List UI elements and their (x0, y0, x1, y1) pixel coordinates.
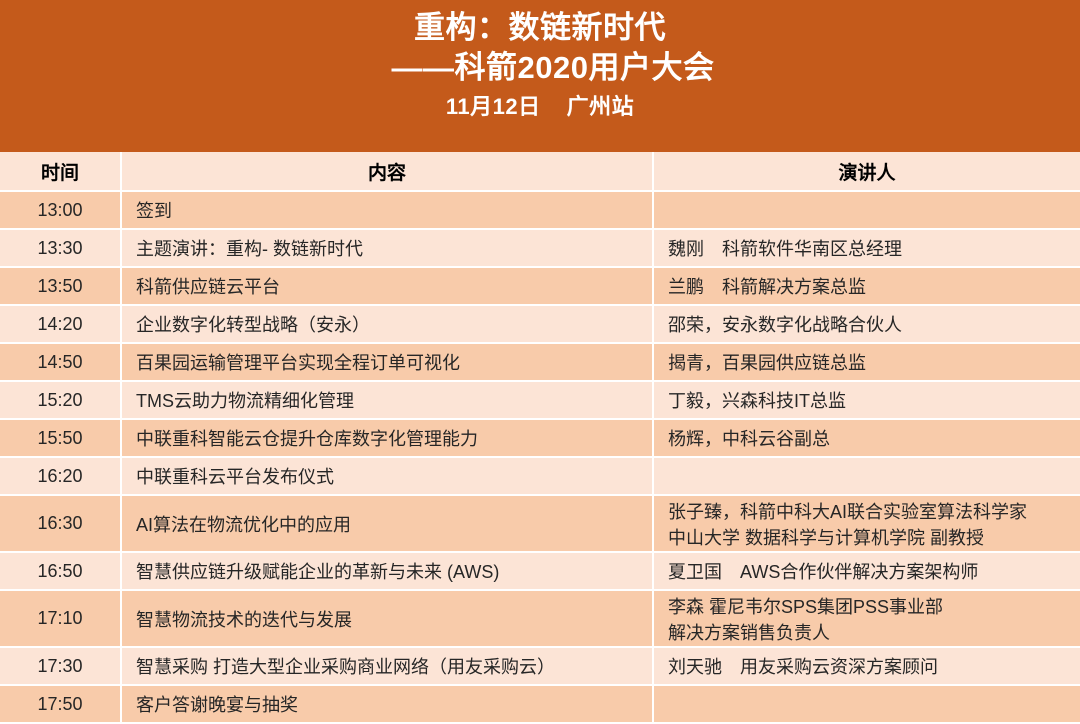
row-topic: 智慧采购 打造大型企业采购商业网络（用友采购云） (121, 647, 653, 685)
row-speaker: 杨辉，中科云谷副总 (653, 419, 1080, 457)
row-speaker: 邵荣，安永数字化战略合伙人 (653, 305, 1080, 343)
table-row: 16:50 智慧供应链升级赋能企业的革新与未来 (AWS) 夏卫国 AWS合作伙… (0, 552, 1080, 590)
row-time: 14:50 (0, 343, 121, 381)
row-speaker: 兰鹏 科箭解决方案总监 (653, 267, 1080, 305)
row-speaker: 张子臻，科箭中科大AI联合实验室算法科学家 中山大学 数据科学与计算机学院 副教… (653, 495, 1080, 552)
banner-city: 广州站 (567, 94, 635, 119)
table-row: 16:20 中联重科云平台发布仪式 (0, 457, 1080, 495)
row-speaker: 魏刚 科箭软件华南区总经理 (653, 229, 1080, 267)
row-time: 15:50 (0, 419, 121, 457)
banner-title-secondary: ——科箭2020用户大会 (366, 52, 715, 85)
row-topic: TMS云助力物流精细化管理 (121, 381, 653, 419)
row-speaker-line2: 解决方案销售负责人 (668, 619, 1080, 645)
row-speaker-line1: 杨辉，中科云谷副总 (668, 425, 1080, 451)
row-topic: 企业数字化转型战略（安永） (121, 305, 653, 343)
row-speaker-line1: 张子臻，科箭中科大AI联合实验室算法科学家 (668, 498, 1080, 524)
table-row: 13:00 签到 (0, 191, 1080, 229)
row-topic: 百果园运输管理平台实现全程订单可视化 (121, 343, 653, 381)
row-time: 13:50 (0, 267, 121, 305)
row-time: 17:50 (0, 685, 121, 723)
column-header-time: 时间 (0, 152, 121, 191)
row-speaker (653, 191, 1080, 229)
table-row: 13:30 主题演讲：重构- 数链新时代 魏刚 科箭软件华南区总经理 (0, 229, 1080, 267)
row-speaker: 李森 霍尼韦尔SPS集团PSS事业部 解决方案销售负责人 (653, 590, 1080, 647)
row-speaker-line1: 邵荣，安永数字化战略合伙人 (668, 311, 1080, 337)
row-speaker-line1: 李森 霍尼韦尔SPS集团PSS事业部 (668, 593, 1080, 619)
table-row: 16:30 AI算法在物流优化中的应用 张子臻，科箭中科大AI联合实验室算法科学… (0, 495, 1080, 552)
row-speaker-line1: 魏刚 科箭软件华南区总经理 (668, 235, 1080, 261)
row-speaker-line1: 兰鹏 科箭解决方案总监 (668, 273, 1080, 299)
agenda-table-head: 时间 内容 演讲人 (0, 152, 1080, 191)
row-time: 13:00 (0, 191, 121, 229)
row-topic: 主题演讲：重构- 数链新时代 (121, 229, 653, 267)
table-row: 15:20 TMS云助力物流精细化管理 丁毅，兴森科技IT总监 (0, 381, 1080, 419)
table-row: 14:20 企业数字化转型战略（安永） 邵荣，安永数字化战略合伙人 (0, 305, 1080, 343)
row-topic: 中联重科云平台发布仪式 (121, 457, 653, 495)
row-topic: 签到 (121, 191, 653, 229)
table-row: 17:30 智慧采购 打造大型企业采购商业网络（用友采购云） 刘天驰 用友采购云… (0, 647, 1080, 685)
row-time: 15:20 (0, 381, 121, 419)
row-speaker-line2: 中山大学 数据科学与计算机学院 副教授 (668, 524, 1080, 550)
row-speaker: 刘天驰 用友采购云资深方案顾问 (653, 647, 1080, 685)
row-topic: 客户答谢晚宴与抽奖 (121, 685, 653, 723)
table-row: 17:50 客户答谢晚宴与抽奖 (0, 685, 1080, 723)
banner-date: 11月12日 (446, 94, 541, 119)
row-time: 17:30 (0, 647, 121, 685)
row-speaker: 夏卫国 AWS合作伙伴解决方案架构师 (653, 552, 1080, 590)
event-banner: 重构：数链新时代 ——科箭2020用户大会 11月12日广州站 (0, 0, 1080, 152)
table-header-row: 时间 内容 演讲人 (0, 152, 1080, 191)
row-topic: 中联重科智能云仓提升仓库数字化管理能力 (121, 419, 653, 457)
row-topic: 科箭供应链云平台 (121, 267, 653, 305)
table-row: 15:50 中联重科智能云仓提升仓库数字化管理能力 杨辉，中科云谷副总 (0, 419, 1080, 457)
row-speaker: 揭青，百果园供应链总监 (653, 343, 1080, 381)
row-topic: AI算法在物流优化中的应用 (121, 495, 653, 552)
row-time: 16:30 (0, 495, 121, 552)
row-speaker-line1: 夏卫国 AWS合作伙伴解决方案架构师 (668, 558, 1080, 584)
row-speaker-line1: 刘天驰 用友采购云资深方案顾问 (668, 653, 1080, 679)
table-row: 17:10 智慧物流技术的迭代与发展 李森 霍尼韦尔SPS集团PSS事业部 解决… (0, 590, 1080, 647)
column-header-topic: 内容 (121, 152, 653, 191)
row-time: 17:10 (0, 590, 121, 647)
row-time: 13:30 (0, 229, 121, 267)
agenda-table: 时间 内容 演讲人 13:00 签到 13:30 主题演讲：重构- 数链新时代 … (0, 152, 1080, 724)
row-speaker (653, 685, 1080, 723)
agenda-table-body: 13:00 签到 13:30 主题演讲：重构- 数链新时代 魏刚 科箭软件华南区… (0, 191, 1080, 723)
row-speaker: 丁毅，兴森科技IT总监 (653, 381, 1080, 419)
row-speaker (653, 457, 1080, 495)
row-time: 14:20 (0, 305, 121, 343)
row-time: 16:50 (0, 552, 121, 590)
row-topic: 智慧供应链升级赋能企业的革新与未来 (AWS) (121, 552, 653, 590)
banner-title-primary: 重构：数链新时代 (414, 12, 666, 45)
table-row: 13:50 科箭供应链云平台 兰鹏 科箭解决方案总监 (0, 267, 1080, 305)
table-row: 14:50 百果园运输管理平台实现全程订单可视化 揭青，百果园供应链总监 (0, 343, 1080, 381)
row-speaker-line1: 丁毅，兴森科技IT总监 (668, 387, 1080, 413)
row-time: 16:20 (0, 457, 121, 495)
column-header-speaker: 演讲人 (653, 152, 1080, 191)
row-topic: 智慧物流技术的迭代与发展 (121, 590, 653, 647)
banner-subtitle: 11月12日广州站 (446, 95, 634, 118)
row-speaker-line1: 揭青，百果园供应链总监 (668, 349, 1080, 375)
